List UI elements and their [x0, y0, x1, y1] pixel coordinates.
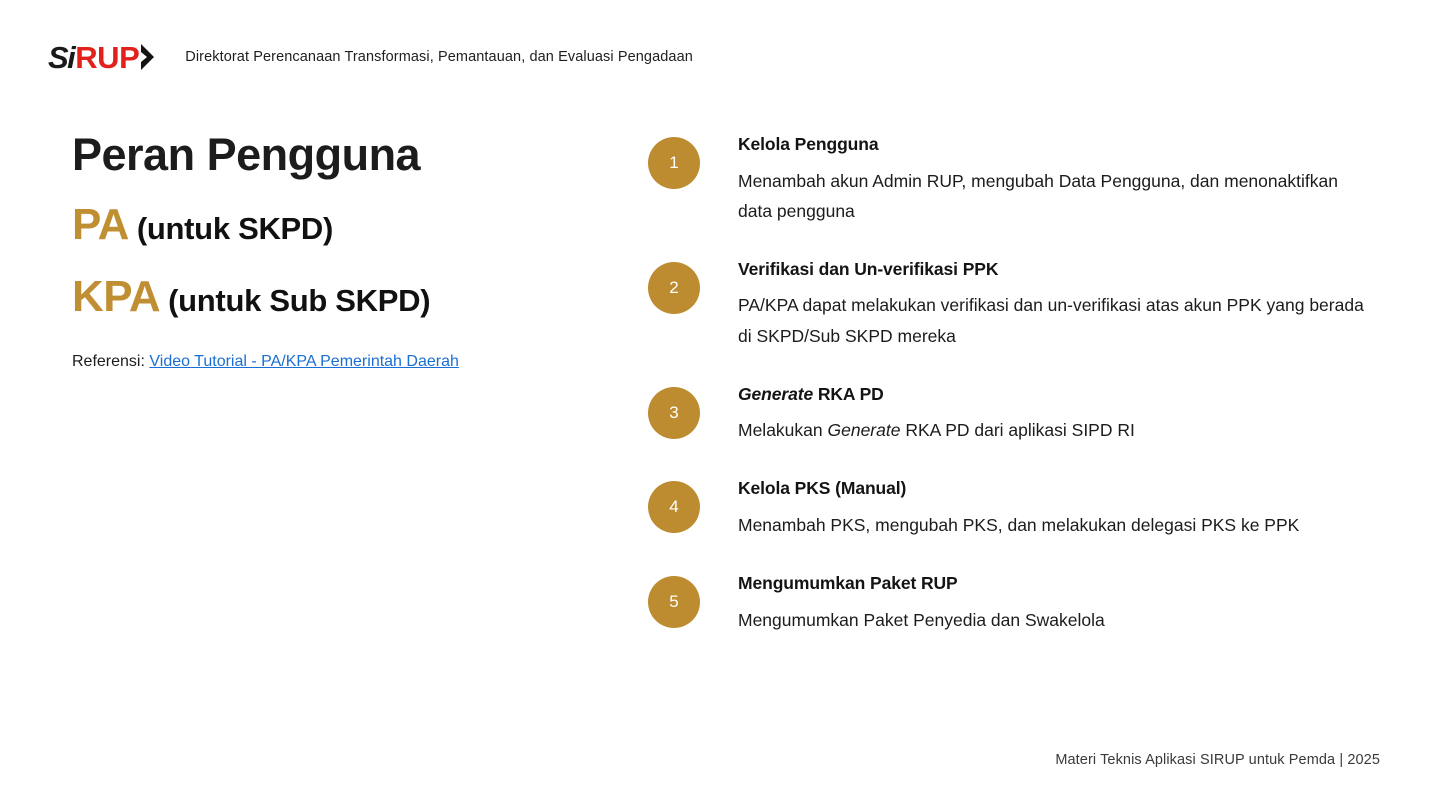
reference-video-tutorial-link[interactable]: Video Tutorial - PA/KPA Pemerintah Daera… — [149, 353, 459, 370]
step-body: Verifikasi dan Un-verifikasi PPK PA/KPA … — [738, 256, 1368, 351]
step-description: Melakukan Generate RKA PD dari aplikasi … — [738, 415, 1135, 445]
step-title-plain: Verifikasi dan Un-verifikasi PPK — [738, 259, 998, 279]
step-desc-pre: Melakukan — [738, 420, 828, 440]
sirup-logo: SiRUP — [48, 40, 157, 74]
step-body: Kelola PKS (Manual) Menambah PKS, mengub… — [738, 475, 1299, 540]
step-title-plain: RKA PD — [813, 384, 884, 404]
step-title: Mengumumkan Paket RUP — [738, 572, 1105, 596]
step-desc-italic: Generate — [828, 420, 901, 440]
step-desc-pre: Mengumumkan Paket Penyedia dan Swakelola — [738, 610, 1105, 630]
step-title-plain: Kelola Pengguna — [738, 134, 878, 154]
step-desc-post: RKA PD dari aplikasi SIPD RI — [900, 420, 1134, 440]
step-body: Kelola Pengguna Menambah akun Admin RUP,… — [738, 131, 1368, 226]
list-item: 2 Verifikasi dan Un-verifikasi PPK PA/KP… — [648, 256, 1388, 351]
step-title-plain: Kelola PKS (Manual) — [738, 478, 906, 498]
page-title: Peran Pengguna — [72, 132, 632, 177]
role-desc-pa: (untuk SKPD) — [137, 211, 333, 246]
step-title: Kelola PKS (Manual) — [738, 477, 1299, 501]
step-description: Mengumumkan Paket Penyedia dan Swakelola — [738, 605, 1105, 635]
reference-label: Referensi: — [72, 353, 145, 370]
step-body: Mengumumkan Paket RUP Mengumumkan Paket … — [738, 570, 1105, 635]
chevron-right-icon — [140, 44, 157, 70]
step-number-badge: 3 — [648, 387, 700, 439]
step-number-badge: 4 — [648, 481, 700, 533]
step-number-badge: 5 — [648, 576, 700, 628]
header-subtitle: Direktorat Perencanaan Transformasi, Pem… — [185, 49, 693, 65]
reference-line: Referensi: Video Tutorial - PA/KPA Pemer… — [72, 353, 632, 371]
step-title: Generate RKA PD — [738, 383, 1135, 407]
slide-header: SiRUP Direktorat Perencanaan Transformas… — [48, 40, 693, 74]
left-content-column: Peran Pengguna PA(untuk SKPD) KPA(untuk … — [72, 132, 632, 371]
step-number-badge: 2 — [648, 262, 700, 314]
steps-list: 1 Kelola Pengguna Menambah akun Admin RU… — [648, 131, 1388, 635]
role-desc-kpa: (untuk Sub SKPD) — [168, 283, 430, 318]
role-line-kpa: KPA(untuk Sub SKPD) — [72, 275, 632, 319]
step-desc-pre: Menambah PKS, mengubah PKS, dan melakuka… — [738, 515, 1299, 535]
step-title: Verifikasi dan Un-verifikasi PPK — [738, 258, 1368, 282]
list-item: 5 Mengumumkan Paket RUP Mengumumkan Pake… — [648, 570, 1388, 635]
step-description: PA/KPA dapat melakukan verifikasi dan un… — [738, 290, 1368, 350]
logo-rup-text: RUP — [75, 42, 139, 73]
step-body: Generate RKA PD Melakukan Generate RKA P… — [738, 381, 1135, 446]
step-title: Kelola Pengguna — [738, 133, 1368, 157]
role-line-pa: PA(untuk SKPD) — [72, 203, 632, 247]
role-abbr-pa: PA — [72, 200, 129, 249]
logo-si-text: Si — [48, 42, 74, 73]
list-item: 4 Kelola PKS (Manual) Menambah PKS, meng… — [648, 475, 1388, 540]
list-item: 1 Kelola Pengguna Menambah akun Admin RU… — [648, 131, 1388, 226]
step-title-italic: Generate — [738, 384, 813, 404]
role-abbr-kpa: KPA — [72, 272, 160, 321]
list-item: 3 Generate RKA PD Melakukan Generate RKA… — [648, 381, 1388, 446]
step-desc-pre: Menambah akun Admin RUP, mengubah Data P… — [738, 171, 1338, 221]
step-description: Menambah PKS, mengubah PKS, dan melakuka… — [738, 510, 1299, 540]
step-number-badge: 1 — [648, 137, 700, 189]
step-description: Menambah akun Admin RUP, mengubah Data P… — [738, 166, 1368, 226]
step-desc-pre: PA/KPA dapat melakukan verifikasi dan un… — [738, 295, 1364, 345]
step-title-plain: Mengumumkan Paket RUP — [738, 573, 958, 593]
slide-footer: Materi Teknis Aplikasi SIRUP untuk Pemda… — [1055, 752, 1380, 768]
